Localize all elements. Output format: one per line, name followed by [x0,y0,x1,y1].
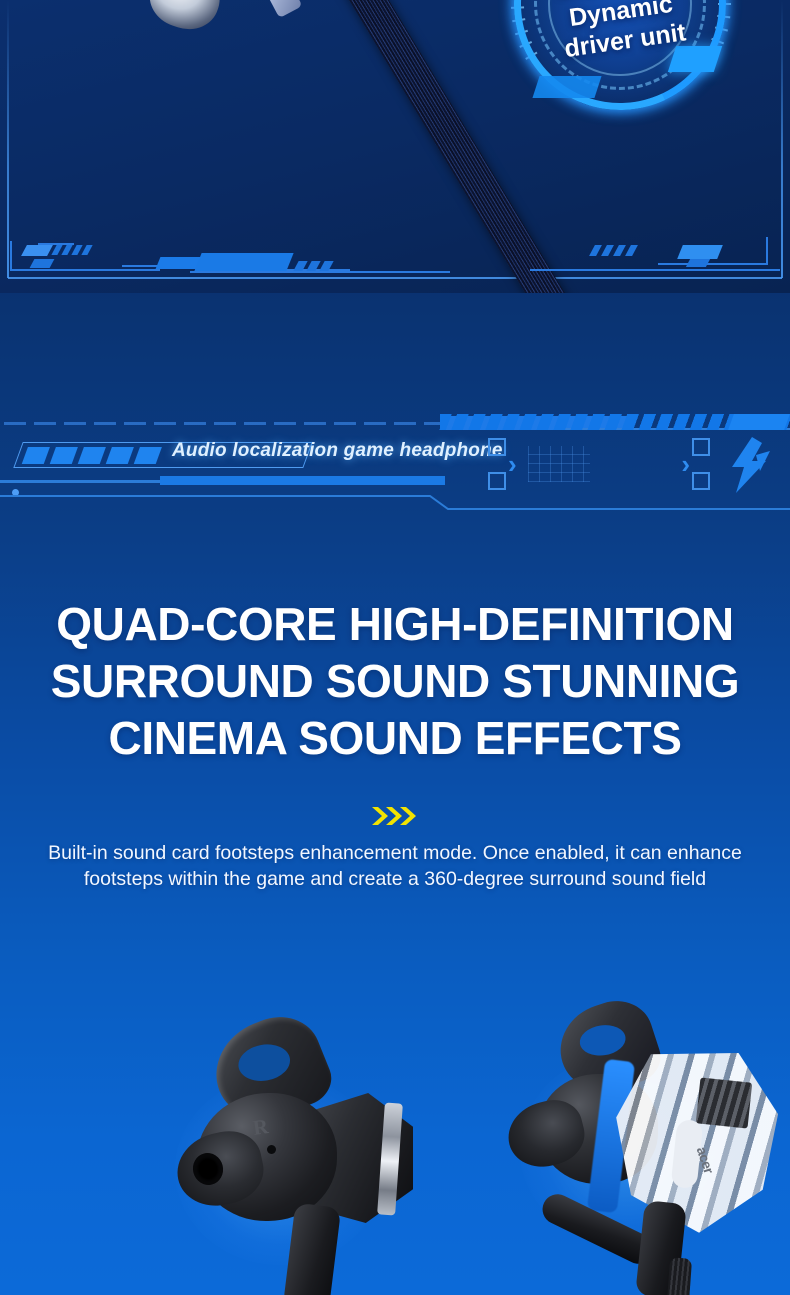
description-text: Built-in sound card footsteps enhancemen… [40,841,750,892]
triple-chevron-right-icon [0,805,790,831]
banner-bracket-frame: › › [488,438,710,490]
panel-border-right [781,0,783,278]
cable-clip [264,0,303,18]
channel-marking-label: R [251,1114,270,1141]
right-earbud-cable-lower [666,1257,692,1295]
banner-hatch-end-block [728,414,790,430]
bracket-corner-br [692,472,710,490]
right-earbud-chrome: acer [520,1002,785,1292]
bracket-grid-texture [528,446,590,482]
banner-title: Audio localization game headphone [172,440,503,462]
driver-unit-badge: 10mm Dynamic driver unit [508,0,732,116]
headline-line-1: QUAD-CORE HIGH-DEFINITION [0,596,790,653]
headline-line-3: CINEMA SOUND EFFECTS [0,710,790,767]
hud-decoration-right [530,237,780,277]
hud-decoration-center [190,237,450,277]
chevron-right-icon: › [681,451,690,477]
left-earbud-vent-hole [267,1145,276,1154]
panel-border-left [7,0,9,278]
chevron-left-icon: › [508,451,517,477]
banner-underline-fill [160,476,445,485]
product-photo-area: R acer [0,990,790,1295]
headline-line-2: SURROUND SOUND STUNNING [0,653,790,710]
earphone-driver-closeup [142,0,228,37]
lightning-bolt-icon [726,437,772,493]
right-earbud-vent-grille [696,1077,753,1128]
left-earbud-black: R [185,1015,435,1285]
banner-dashed-line [4,422,444,425]
bracket-corner-tl [488,438,506,456]
panel-border-bottom [8,277,782,279]
banner-swoop-line [0,492,790,510]
bracket-corner-bl [488,472,506,490]
top-product-panel: 10mm Dynamic driver unit [0,0,790,293]
page-title: QUAD-CORE HIGH-DEFINITION SURROUND SOUND… [0,596,790,767]
bracket-corner-tr [692,438,710,456]
